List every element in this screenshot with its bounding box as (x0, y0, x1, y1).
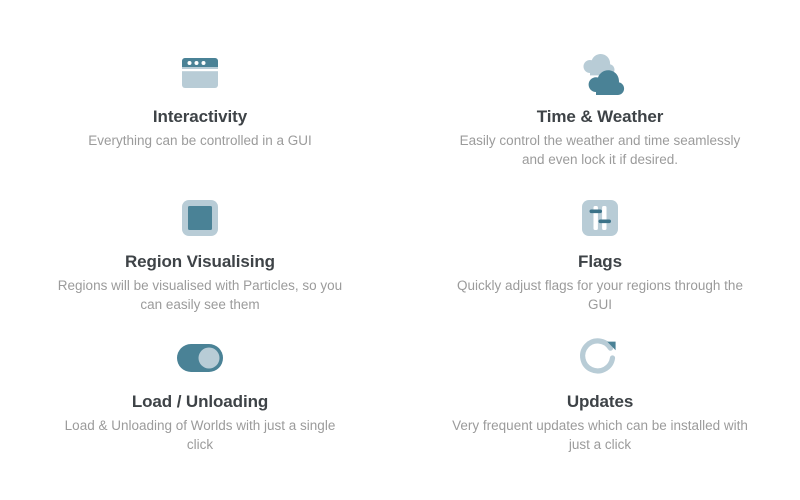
rounded-square-region-icon (180, 192, 220, 244)
toggle-switch-icon (176, 332, 224, 384)
feature-card-region-visualising: Region Visualising Regions will be visua… (0, 180, 400, 320)
feature-description: Load & Unloading of Worlds with just a s… (50, 417, 350, 454)
sliders-icon (580, 192, 620, 244)
feature-title: Interactivity (153, 107, 247, 127)
clouds-weather-icon (572, 47, 628, 99)
feature-card-interactivity: Interactivity Everything can be controll… (0, 5, 400, 180)
feature-title: Load / Unloading (132, 392, 268, 412)
feature-card-load-unloading: Load / Unloading Load & Unloading of Wor… (0, 320, 400, 460)
feature-title: Region Visualising (125, 252, 275, 272)
feature-description: Regions will be visualised with Particle… (50, 277, 350, 314)
feature-description: Quickly adjust flags for your regions th… (450, 277, 750, 314)
feature-title: Time & Weather (537, 107, 663, 127)
feature-card-time-weather: Time & Weather Easily control the weathe… (400, 5, 800, 180)
features-grid: Interactivity Everything can be controll… (0, 0, 800, 500)
feature-card-flags: Flags Quickly adjust flags for your regi… (400, 180, 800, 320)
feature-description: Easily control the weather and time seam… (450, 132, 750, 169)
feature-title: Updates (567, 392, 633, 412)
refresh-arrow-icon (577, 332, 623, 384)
feature-title: Flags (578, 252, 622, 272)
feature-card-updates: Updates Very frequent updates which can … (400, 320, 800, 460)
feature-description: Everything can be controlled in a GUI (88, 132, 312, 151)
feature-description: Very frequent updates which can be insta… (450, 417, 750, 454)
browser-window-icon (177, 47, 223, 99)
